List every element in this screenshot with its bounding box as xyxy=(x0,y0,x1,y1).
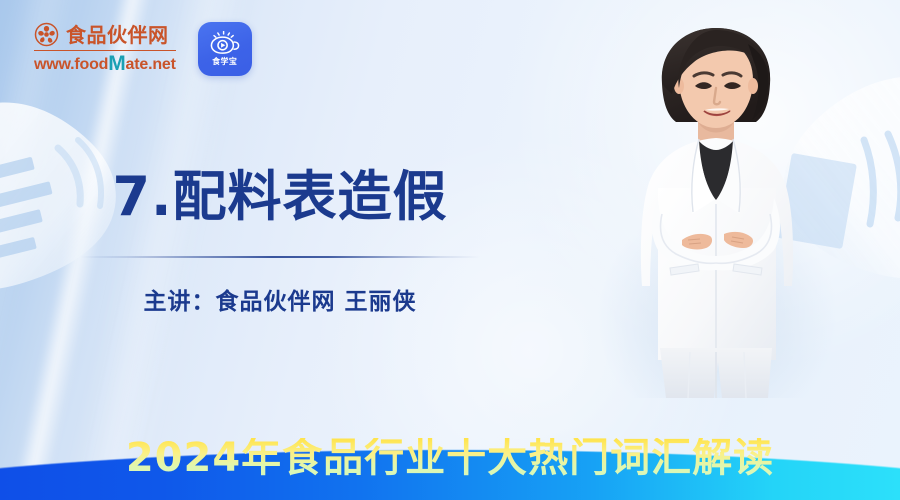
app-icon-shixuebao[interactable]: 食学宝 xyxy=(198,22,252,76)
brand-url-suffix: ate.net xyxy=(126,56,176,73)
brand-url-highlight: M xyxy=(108,52,125,75)
presenter-photo xyxy=(596,18,836,398)
brand-logo[interactable]: 食品伙伴网 www.foodMate.net xyxy=(34,22,176,75)
slide-canvas: 食品伙伴网 www.foodMate.net xyxy=(0,0,900,500)
brand-divider xyxy=(34,50,176,51)
bottom-banner: 2024年食品行业十大热门词汇解读 xyxy=(0,378,900,500)
brand-name-cn: 食品伙伴网 xyxy=(66,25,169,45)
app-icon-label: 食学宝 xyxy=(212,56,237,67)
page-title: 7.配料表造假 xyxy=(0,168,560,226)
flower-logo-icon xyxy=(34,22,59,47)
logo-row: 食品伙伴网 www.foodMate.net xyxy=(34,22,252,76)
brand-url-prefix: www.food xyxy=(34,56,108,73)
eye-play-icon xyxy=(209,31,241,55)
banner-title: 2024年食品行业十大热门词汇解读 xyxy=(0,438,900,478)
brand-top-line: 食品伙伴网 xyxy=(34,22,169,47)
title-block: 7.配料表造假 主讲：食品伙伴网 王丽侠 xyxy=(0,168,560,316)
brand-url: www.foodMate.net xyxy=(34,53,176,75)
title-divider xyxy=(80,256,480,258)
presenter-subtitle: 主讲：食品伙伴网 王丽侠 xyxy=(0,282,560,316)
